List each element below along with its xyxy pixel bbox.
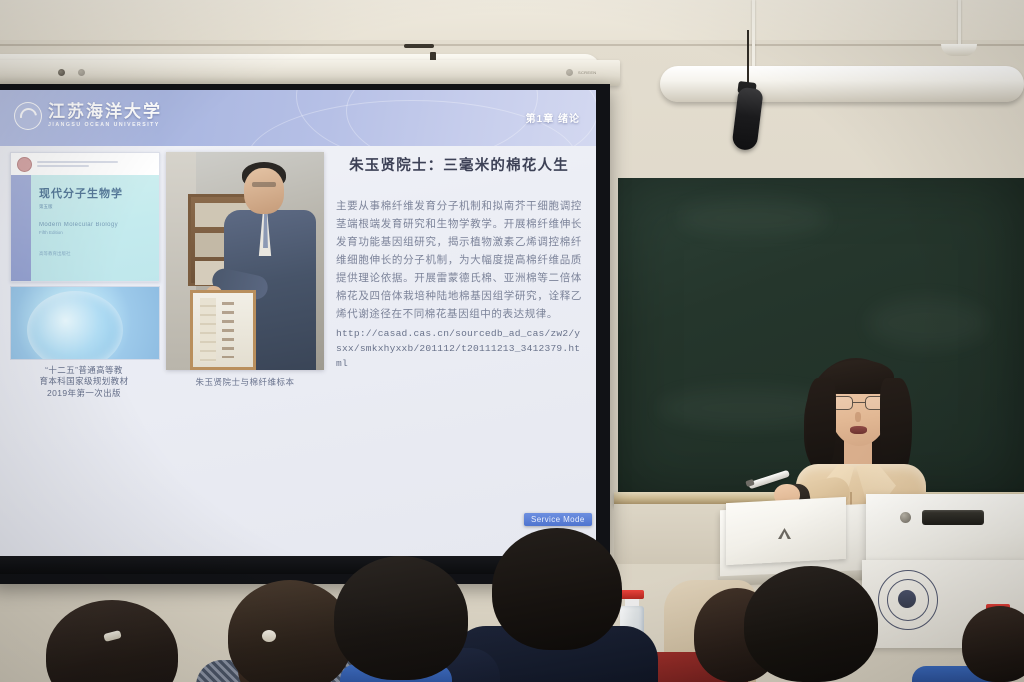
book-caption-line3: 2019年第一次出版	[10, 388, 158, 399]
mode-badge: Service Mode	[524, 513, 592, 526]
book-title-en: Modern Molecular Biology	[39, 222, 151, 228]
housing-label: SCREEN	[578, 70, 596, 75]
cell-image	[10, 286, 160, 360]
book-caption: “十二五”普通高等教 育本科国家级规划教材 2019年第一次出版	[10, 365, 158, 399]
hair-clip-icon	[262, 630, 276, 642]
book-edition-en: Fifth Edition	[39, 230, 151, 235]
projection-screen-frame: 江苏海洋大学 JIANGSU OCEAN UNIVERSITY 第1章 绪论	[0, 84, 610, 584]
slide-source-url[interactable]: http://casad.cas.cn/sourcedb_ad_cas/zw2/…	[336, 327, 582, 372]
slide-title: 朱玉贤院士：三毫米的棉花人生	[336, 154, 582, 175]
university-logo: 江苏海洋大学 JIANGSU OCEAN UNIVERSITY	[14, 102, 162, 130]
scientist-photo	[166, 152, 324, 370]
glasses-icon	[832, 396, 886, 410]
book-subtitle-cn: 第五版	[39, 204, 151, 210]
book-caption-line2: 育本科国家级规划教材	[10, 376, 158, 387]
lectern-slot	[922, 510, 984, 525]
photo-column: 朱玉贤院士与棉纤维标本	[166, 152, 324, 388]
university-name-en: JIANGSU OCEAN UNIVERSITY	[48, 123, 162, 128]
text-column: 朱玉贤院士：三毫米的棉花人生 主要从事棉纤维发育分子机制和拟南芥干细胞调控茎端根…	[336, 150, 582, 372]
slide: 江苏海洋大学 JIANGSU OCEAN UNIVERSITY 第1章 绪论	[0, 90, 596, 560]
audience-head	[492, 528, 622, 650]
rail-bracket-arm	[404, 44, 434, 48]
screen-roller-tube	[660, 66, 1024, 102]
book-column: 现代分子生物学 第五版 Modern Molecular Biology Fif…	[10, 152, 158, 399]
publisher-seal-icon	[17, 157, 32, 172]
slide-header: 江苏海洋大学 JIANGSU OCEAN UNIVERSITY 第1章 绪论	[0, 90, 596, 146]
audience-head	[334, 556, 468, 680]
slide-paragraph: 主要从事棉纤维发育分子机制和拟南芥干细胞调控茎端根端发育研究和生物学教学。开展棉…	[336, 197, 582, 323]
ceiling-rod-left	[752, 0, 755, 70]
screen-housing	[0, 60, 620, 86]
photo-caption: 朱玉贤院士与棉纤维标本	[166, 376, 324, 388]
university-name-cn: 江苏海洋大学	[48, 103, 162, 120]
projection-screen-surface: 江苏海洋大学 JIANGSU OCEAN UNIVERSITY 第1章 绪论	[0, 90, 596, 560]
audience-head	[962, 606, 1024, 682]
book-cover-image: 现代分子生物学 第五版 Modern Molecular Biology Fif…	[10, 152, 160, 282]
university-logo-icon	[14, 102, 42, 130]
lecture-hall-scene: SCREEN 江苏海洋大学 JIANGSU OCEAN UNIVERSITY	[0, 0, 1024, 682]
book-publisher: 高等教育出版社	[39, 251, 151, 257]
lectern-knob[interactable]	[900, 512, 911, 523]
chapter-label: 第1章 绪论	[526, 110, 580, 125]
book-caption-line1: “十二五”普通高等教	[10, 365, 158, 376]
wall-seam	[0, 44, 1024, 46]
audience-head	[744, 566, 878, 682]
slide-body: 现代分子生物学 第五版 Modern Molecular Biology Fif…	[0, 146, 596, 560]
book-title-cn: 现代分子生物学	[39, 185, 151, 201]
ceiling-rod-right	[958, 0, 961, 48]
